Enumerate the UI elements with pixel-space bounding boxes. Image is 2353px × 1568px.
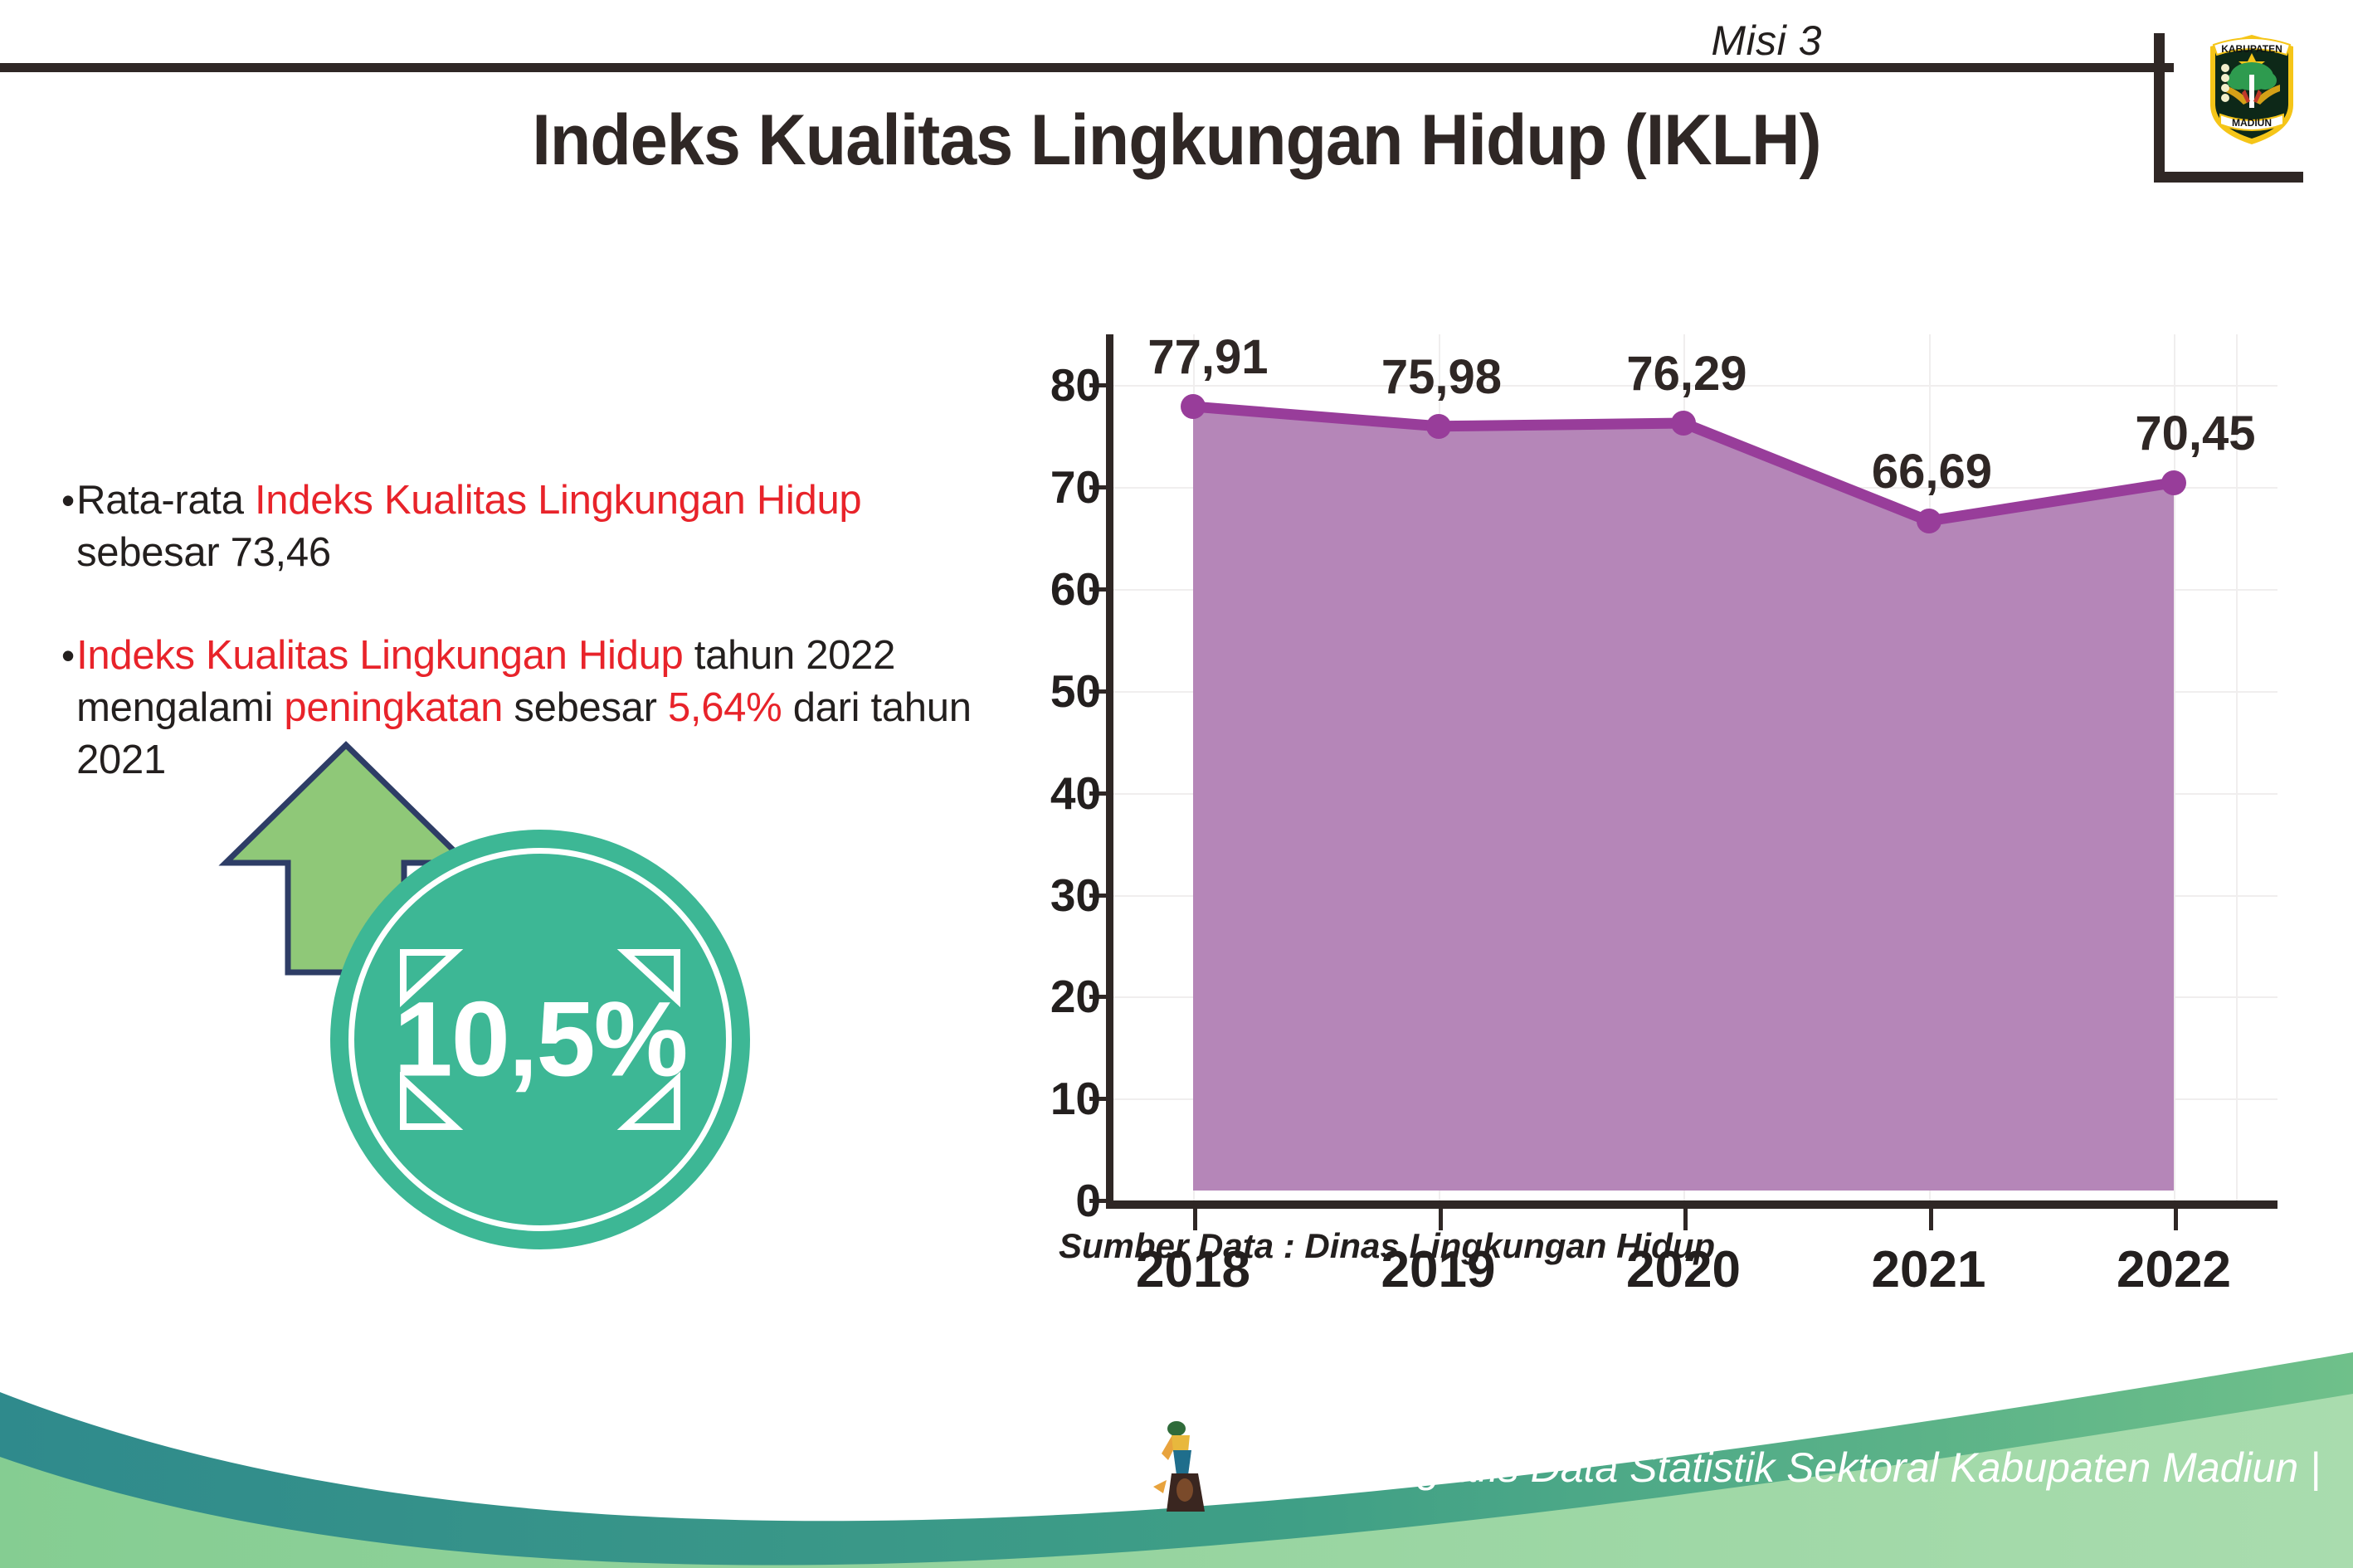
page-title: Indeks Kualitas Lingkungan Hidup (IKLH) <box>71 100 2282 182</box>
iklh-area-chart: 01020304050607080 20182019202020212022 7… <box>983 295 2277 1191</box>
bullet-segment: Indeks Kualitas Lingkungan Hidup <box>76 633 683 678</box>
crest-top-ribbon-text: KABUPATEN <box>2221 43 2282 55</box>
footer-wave: Media Infografis Data Statistik Sektoral… <box>0 1294 2353 1568</box>
bullet-list: • Rata-rata Indeks Kualitas Lingkungan H… <box>61 475 982 838</box>
area-series <box>983 295 2277 1191</box>
bullet-item-2: • Indeks Kualitas Lingkungan Hidup tahun… <box>61 630 982 786</box>
infographic-slide: Misi 3 KABUPATEN MADIUN Indeks Kualitas … <box>0 0 2353 1568</box>
source-note: Sumber Data : Dinas Lingkungan Hidup <box>1059 1226 1715 1266</box>
footer-text: Media Infografis Data Statistik Sektoral… <box>1224 1444 2321 1492</box>
percentage-badge: 10,5% <box>330 830 750 1249</box>
bullet-segment: 5,64% <box>668 685 782 730</box>
bullet-item-1: • Rata-rata Indeks Kualitas Lingkungan H… <box>61 475 982 578</box>
data-value-label: 77,91 <box>1147 329 1268 385</box>
data-point-marker <box>2161 470 2186 495</box>
human-figure-logo-icon <box>1147 1410 1226 1517</box>
data-value-label: 75,98 <box>1381 349 1502 405</box>
data-point-marker <box>1426 414 1451 439</box>
data-value-label: 66,69 <box>1872 444 1992 499</box>
x-axis-line <box>1106 1200 2277 1209</box>
x-tick-label: 2022 <box>2117 1240 2231 1299</box>
data-point-marker <box>1917 509 1941 533</box>
header-rule <box>0 63 2174 72</box>
x-tick-mark <box>2174 1209 2178 1230</box>
bullet-dot-icon: • <box>61 481 75 519</box>
x-tick-mark <box>1929 1209 1933 1230</box>
area-fill <box>1193 407 2174 1191</box>
data-point-marker <box>1671 411 1696 436</box>
data-value-label: 76,29 <box>1626 346 1746 402</box>
bullet-segment: peningkatan <box>284 685 503 730</box>
data-value-label: 70,45 <box>2135 406 2255 461</box>
misi-label: Misi 3 <box>1711 17 1822 65</box>
bullet-segment: sebesar 73,46 <box>76 530 331 575</box>
badge-value: 10,5% <box>330 979 750 1101</box>
bullet-text-2: Indeks Kualitas Lingkungan Hidup tahun 2… <box>76 630 982 786</box>
bullet-text-1: Rata-rata Indeks Kualitas Lingkungan Hid… <box>76 475 982 578</box>
bullet-segment: sebesar <box>503 685 668 730</box>
bullet-dot-icon: • <box>61 636 75 674</box>
x-tick-label: 2021 <box>1872 1240 1986 1299</box>
bullet-segment: Indeks Kualitas Lingkungan Hidup <box>255 478 861 523</box>
bullet-segment: Rata-rata <box>76 478 255 523</box>
data-point-marker <box>1181 394 1206 419</box>
